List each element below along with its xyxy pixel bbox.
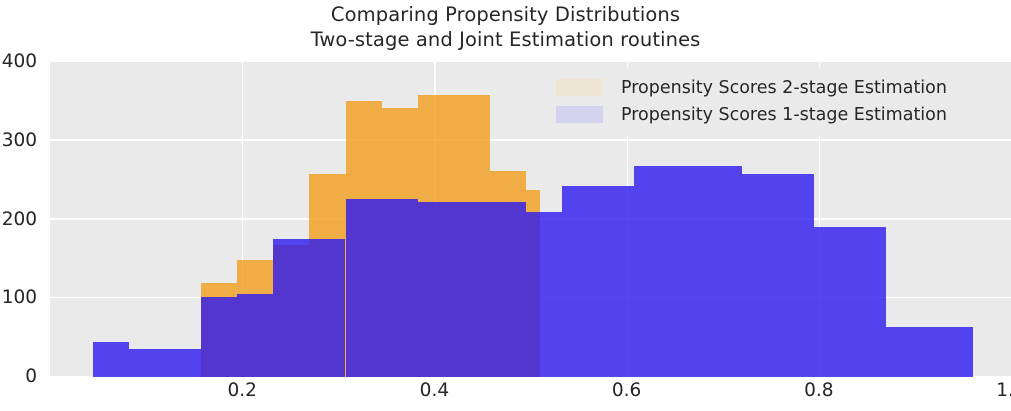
legend-swatch-2stage-icon [556, 79, 603, 96]
chart-title: Comparing Propensity DistributionsTwo-st… [0, 2, 1011, 52]
bar-1stage [201, 297, 237, 377]
bar-1stage [129, 349, 201, 377]
bar-1stage [273, 239, 345, 377]
chart-title-line1: Comparing Propensity Distributions [331, 3, 680, 26]
legend-label-2stage: Propensity Scores 2-stage Estimation [621, 78, 947, 98]
x-tick-label: 0.4 [420, 381, 449, 401]
x-tick-label: 1.0 [996, 381, 1011, 401]
legend-item-2stage: Propensity Scores 2-stage Estimation [556, 74, 993, 101]
bar-1stage [93, 342, 129, 377]
bar-1stage [562, 186, 634, 377]
y-tick-label: 100 [0, 289, 44, 308]
y-tick-label: 0 [0, 368, 44, 387]
legend-label-1stage: Propensity Scores 1-stage Estimation [621, 105, 947, 125]
bar-1stage [742, 174, 814, 377]
y-tick-label: 200 [0, 210, 44, 229]
bar-1stage [237, 294, 273, 377]
bar-1stage [814, 227, 886, 377]
y-tick-label: 400 [0, 53, 44, 72]
legend-swatch-1stage-icon [556, 106, 603, 123]
bar-1stage [634, 166, 742, 377]
y-tick-label: 300 [0, 132, 44, 151]
legend: Propensity Scores 2-stage Estimation Pro… [546, 68, 1001, 136]
chart-subtitle: Two-stage and Joint Estimation routines [0, 27, 1011, 52]
x-tick-label: 0.2 [227, 381, 256, 401]
figure: Comparing Propensity DistributionsTwo-st… [0, 0, 1011, 411]
bar-1stage [886, 327, 972, 377]
legend-item-1stage: Propensity Scores 1-stage Estimation [556, 101, 993, 128]
bar-1stage [526, 212, 562, 377]
x-tick-label: 0.6 [612, 381, 641, 401]
bar-1stage [346, 199, 418, 377]
bar-1stage [418, 202, 526, 377]
x-tick-label: 0.8 [804, 381, 833, 401]
y-axis-ticks: 0100200300400 [0, 62, 44, 377]
x-axis-ticks: 0.20.40.60.81.0 [50, 381, 1011, 407]
